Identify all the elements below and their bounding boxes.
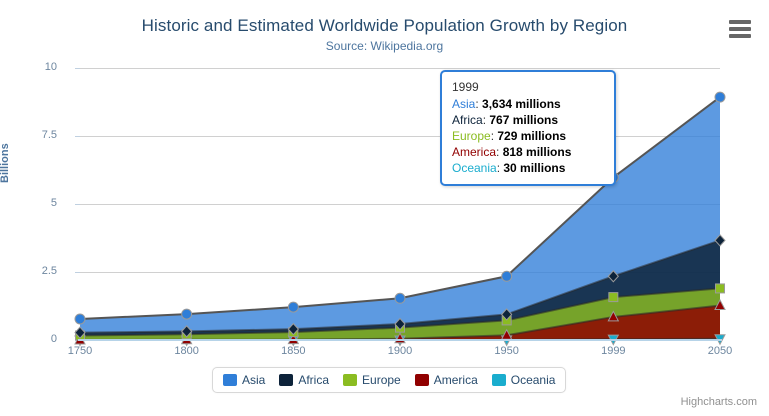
legend-color-swatch [415,374,429,386]
data-point-marker-asia[interactable] [395,293,405,303]
y-axis-title: Billions [0,143,11,183]
legend-item-label: Africa [298,373,329,387]
x-axis-tick-label: 2050 [685,345,755,357]
tooltip-series-value: 729 millions [497,129,566,143]
y-axis-tick-label: 2.5 [0,265,57,277]
tooltip-row: Oceania: 30 millions [452,160,604,176]
tooltip-series-name: Oceania [452,161,497,175]
data-point-marker-asia[interactable] [288,302,298,312]
chart-legend: AsiaAfricaEuropeAmericaOceania [212,367,566,393]
menu-bar-2 [729,27,751,31]
x-axis-tick-label: 1850 [258,345,328,357]
data-point-marker-asia[interactable] [502,271,512,281]
tooltip-row: Africa: 767 millions [452,112,604,128]
tooltip-series-name: America [452,145,496,159]
chart-subtitle: Source: Wikipedia.org [0,39,769,53]
tooltip-series-name: Asia [452,97,475,111]
legend-item-asia[interactable]: Asia [223,373,265,387]
legend-color-swatch [492,374,506,386]
legend-item-africa[interactable]: Africa [279,373,329,387]
tooltip-series-value: 30 millions [503,161,565,175]
legend-item-label: Asia [242,373,265,387]
tooltip-row: Europe: 729 millions [452,128,604,144]
y-axis-tick-label: 7.5 [0,129,57,141]
x-axis-tick-label: 1750 [45,345,115,357]
menu-bar-3 [729,34,751,38]
legend-color-swatch [223,374,237,386]
data-point-marker-asia[interactable] [182,309,192,319]
tooltip-series-value: 818 millions [503,145,572,159]
x-axis-tick-label: 1900 [365,345,435,357]
legend-item-label: America [434,373,478,387]
tooltip-series-value: 767 millions [489,113,558,127]
tooltip: 1999 Asia: 3,634 millionsAfrica: 767 mil… [440,70,616,186]
data-point-marker-europe[interactable] [716,284,725,293]
y-axis-tick-label: 5 [0,197,57,209]
tooltip-separator: : [475,97,482,111]
tooltip-series-name: Europe [452,129,491,143]
plot-area [80,68,720,340]
chart-title: Historic and Estimated Worldwide Populat… [0,16,769,36]
legend-color-swatch [279,374,293,386]
x-axis-line [78,340,722,341]
legend-item-label: Europe [362,373,401,387]
series-layer [80,68,720,340]
tooltip-series-value: 3,634 millions [482,97,561,111]
data-point-marker-europe[interactable] [609,293,618,302]
y-axis-tick-label: 0 [0,333,57,345]
tooltip-header: 1999 [452,79,604,96]
tooltip-series-name: Africa [452,113,483,127]
hamburger-menu-icon[interactable] [727,18,753,40]
x-axis-tick-label: 1999 [578,345,648,357]
credits-label[interactable]: Highcharts.com [681,396,757,408]
legend-item-america[interactable]: America [415,373,478,387]
tooltip-separator: : [496,145,503,159]
y-axis-tick-label: 10 [0,61,57,73]
highcharts-container: Historic and Estimated Worldwide Populat… [0,0,769,416]
tooltip-row: America: 818 millions [452,144,604,160]
legend-item-oceania[interactable]: Oceania [492,373,556,387]
legend-color-swatch [343,374,357,386]
legend-item-label: Oceania [511,373,556,387]
x-axis-tick-label: 1950 [472,345,542,357]
x-axis-tick-label: 1800 [152,345,222,357]
menu-bar-1 [729,20,751,24]
data-point-marker-asia[interactable] [715,92,725,102]
tooltip-row: Asia: 3,634 millions [452,96,604,112]
data-point-marker-asia[interactable] [75,314,85,324]
tooltip-rows: Asia: 3,634 millionsAfrica: 767 millions… [452,96,604,176]
legend-item-europe[interactable]: Europe [343,373,401,387]
